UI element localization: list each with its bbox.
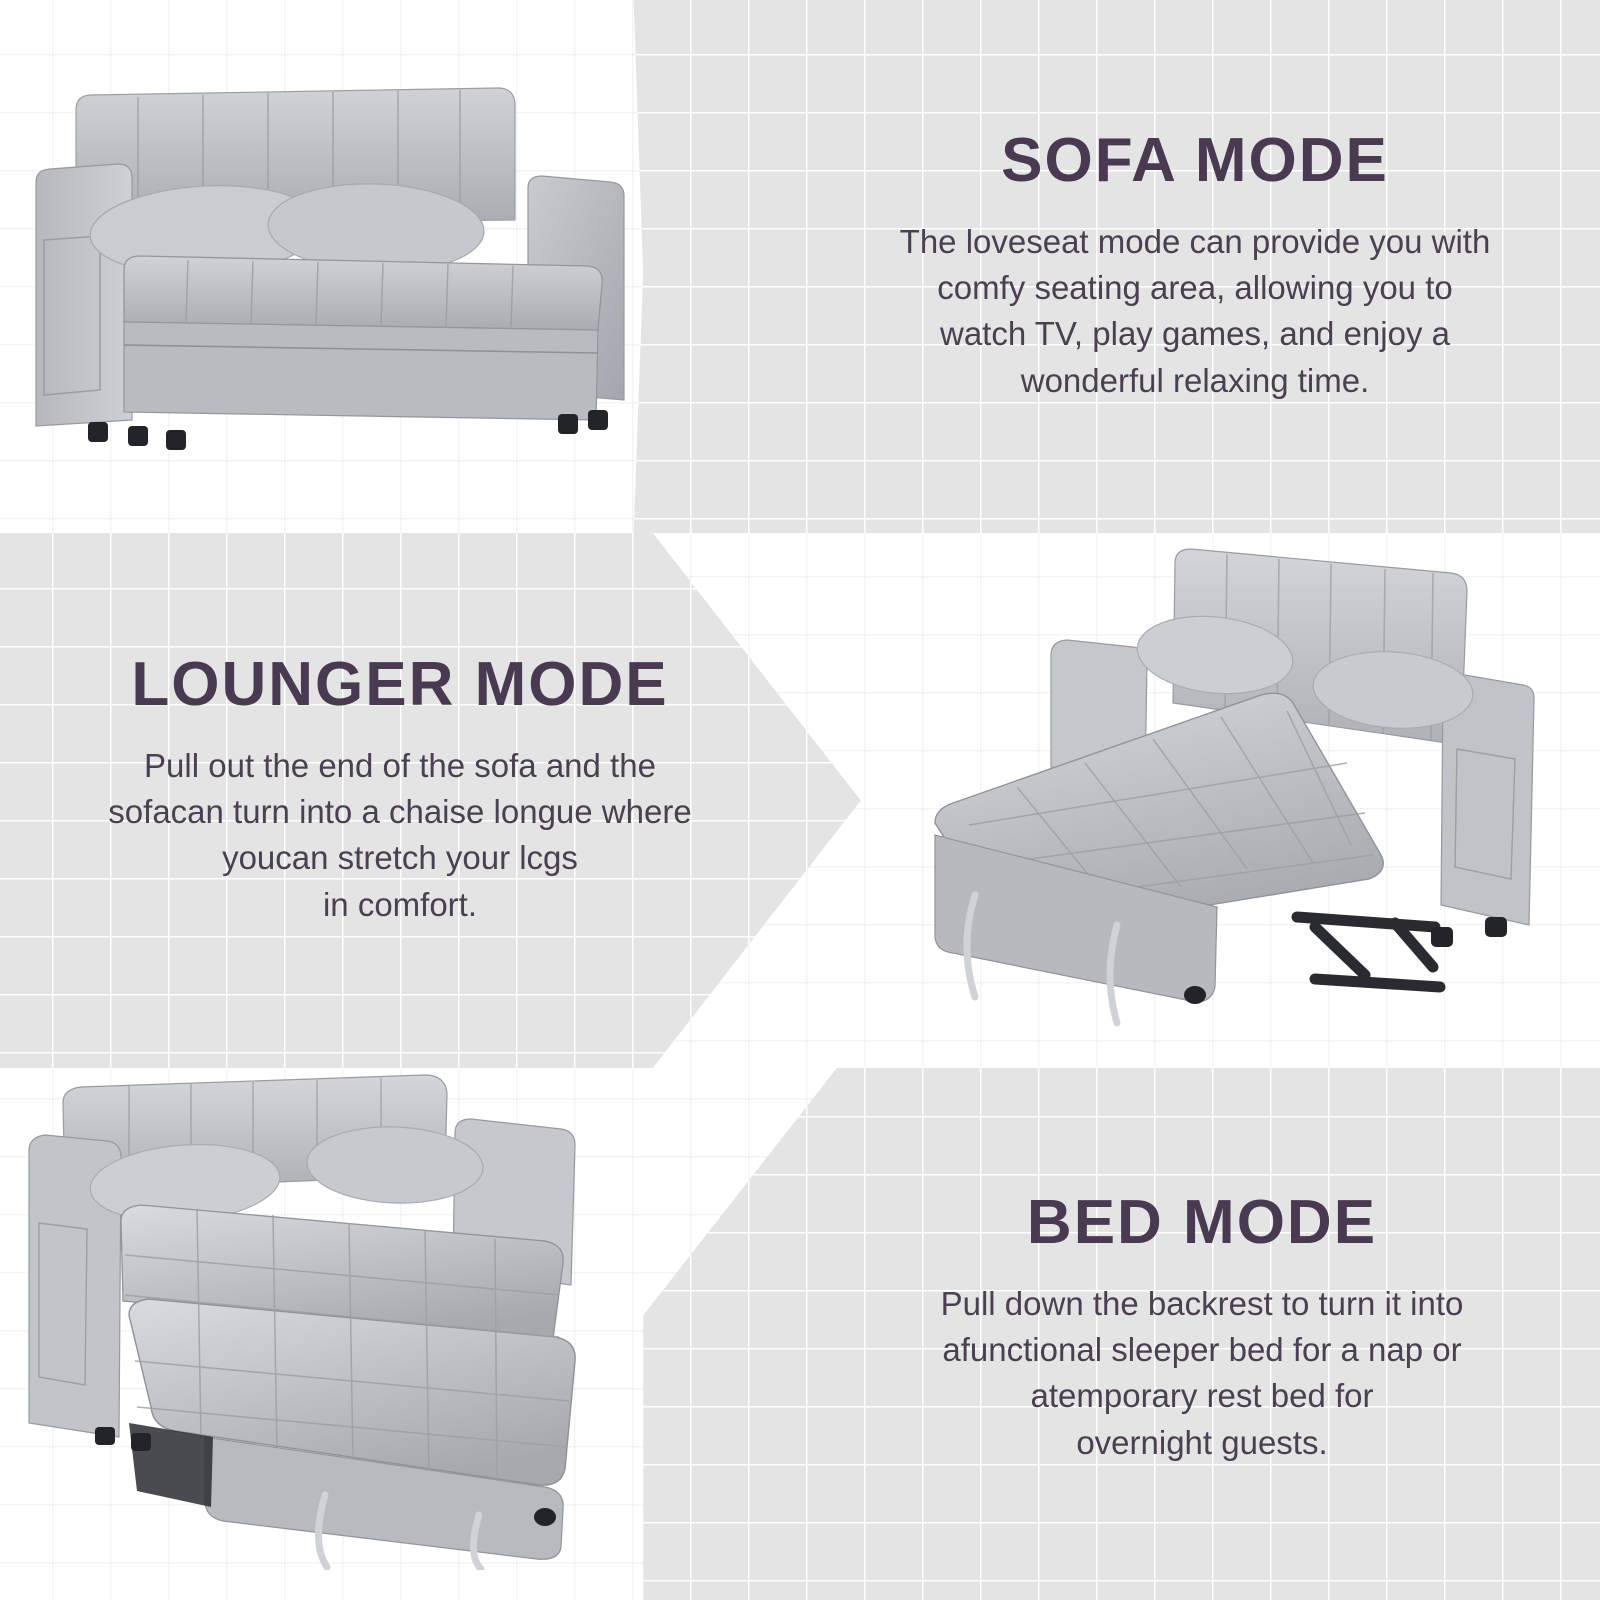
sofa-mode-line-2: comfy seating area, allowing you to bbox=[800, 265, 1590, 311]
bed-mode-line-1: Pull down the backrest to turn it into bbox=[812, 1281, 1592, 1327]
lounger-mode-line-4: in comfort. bbox=[10, 882, 790, 928]
sofa-mode-line-4: wonderful relaxing time. bbox=[800, 358, 1590, 404]
lounger-mode-line-2: sofacan turn into a chaise longue where bbox=[10, 789, 790, 835]
sofa-mode-description: The loveseat mode can provide you with c… bbox=[800, 219, 1590, 404]
sofa-mode-product-image bbox=[28, 70, 638, 490]
lounger-mode-line-1: Pull out the end of the sofa and the bbox=[10, 743, 790, 789]
lounger-mode-title: LOUNGER MODE bbox=[10, 652, 790, 717]
lounger-mode-line-3: youcan stretch your lcgs bbox=[10, 835, 790, 881]
bed-mode-description: Pull down the backrest to turn it into a… bbox=[812, 1281, 1592, 1466]
infographic-root: SOFA MODE The loveseat mode can provide … bbox=[0, 0, 1600, 1600]
bed-mode-line-4: overnight guests. bbox=[812, 1420, 1592, 1466]
bed-mode-title: BED MODE bbox=[812, 1190, 1592, 1255]
bed-mode-line-3: atemporary rest bed for bbox=[812, 1373, 1592, 1419]
sofa-mode-line-3: watch TV, play games, and enjoy a bbox=[800, 311, 1590, 357]
lounger-mode-product-image bbox=[895, 535, 1535, 1035]
sofa-mode-line-1: The loveseat mode can provide you with bbox=[800, 219, 1590, 265]
lounger-mode-text-block: LOUNGER MODE Pull out the end of the sof… bbox=[10, 652, 790, 928]
sofa-mode-title: SOFA MODE bbox=[800, 128, 1590, 193]
bed-mode-product-image bbox=[25, 1055, 690, 1570]
sofa-mode-text-block: SOFA MODE The loveseat mode can provide … bbox=[800, 128, 1590, 404]
lounger-mode-description: Pull out the end of the sofa and the sof… bbox=[10, 743, 790, 928]
bed-mode-line-2: afunctional sleeper bed for a nap or bbox=[812, 1327, 1592, 1373]
bed-mode-text-block: BED MODE Pull down the backrest to turn … bbox=[812, 1190, 1592, 1466]
